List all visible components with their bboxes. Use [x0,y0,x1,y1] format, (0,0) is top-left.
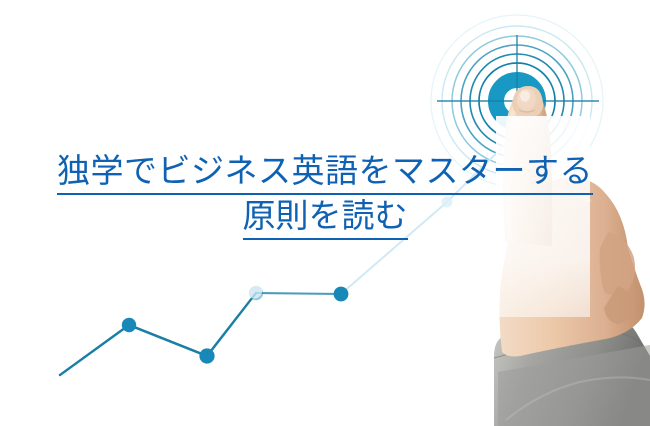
headline-link[interactable]: 独学でビジネス英語をマスターする 原則を読む [0,150,650,240]
promo-banner: 独学でビジネス英語をマスターする 原則を読む [0,0,650,426]
chart-point [249,286,263,300]
fingernail [517,89,537,113]
chart-point [334,287,349,302]
chart-point [122,318,136,332]
headline-line-1: 独学でビジネス英語をマスターする [0,150,650,195]
headline-line-2: 原則を読む [0,195,650,240]
pointing-hand-graphic [494,86,650,426]
chart-point [199,348,214,363]
